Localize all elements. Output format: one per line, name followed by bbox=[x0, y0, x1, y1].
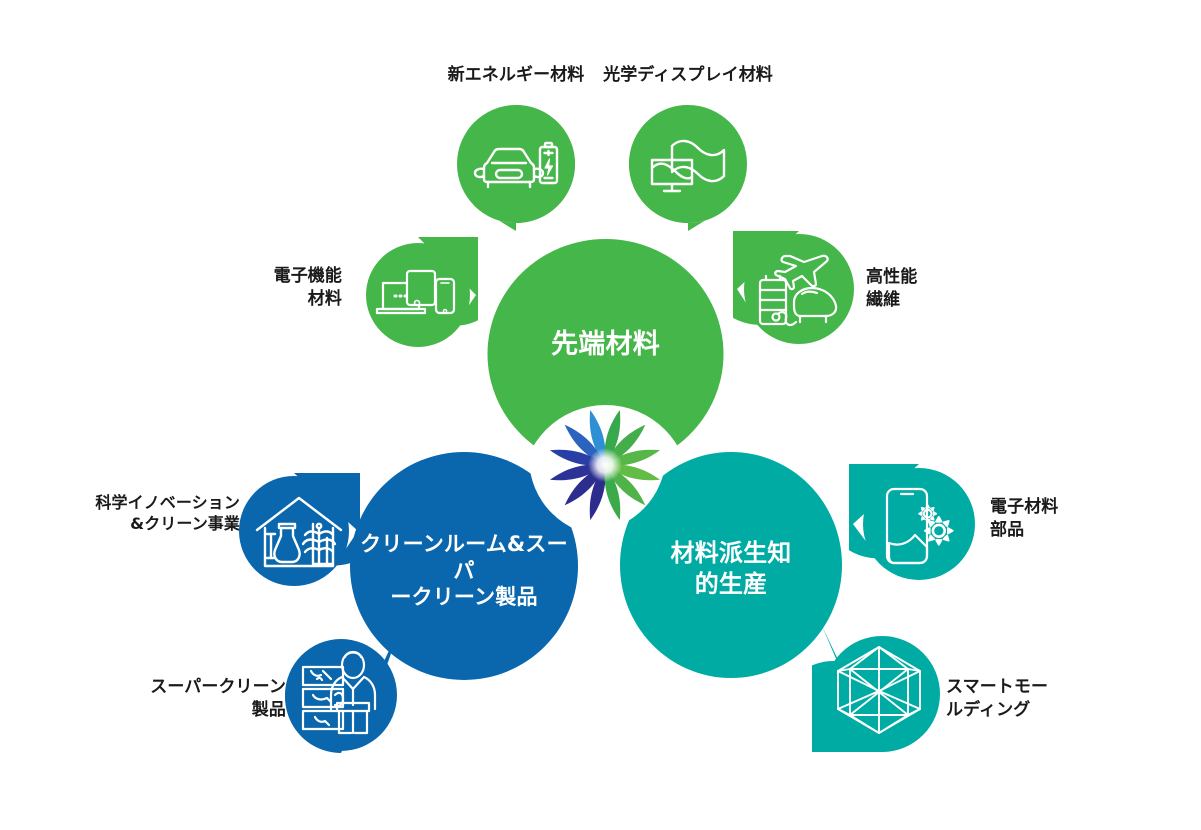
label-electronic-functional-materials: 電子機能 材料 bbox=[196, 265, 342, 311]
devices-icon bbox=[354, 237, 478, 353]
label-science-innovation-clean-business: 科学イノベーション &クリーン事業 bbox=[36, 492, 240, 535]
label-superclean-products: スーパークリーン 製品 bbox=[90, 676, 286, 722]
polyhedron-cube-icon bbox=[816, 628, 942, 752]
label-electronic-material-parts: 電子材料 部品 bbox=[990, 496, 1180, 542]
house-tree-flask-icon bbox=[238, 475, 360, 595]
label-high-performance-fiber: 高性能 繊維 bbox=[866, 266, 1026, 312]
flower-starburst-logo bbox=[541, 401, 669, 529]
satellite-electronic-material-parts[interactable] bbox=[849, 464, 977, 588]
satellite-smart-moulding[interactable] bbox=[812, 626, 942, 752]
airplane-train-battery-icon bbox=[739, 231, 857, 353]
satellite-high-performance-fiber[interactable] bbox=[733, 231, 857, 353]
satellite-superclean-products[interactable] bbox=[283, 625, 403, 753]
label-smart-moulding: スマートモー ルディング bbox=[946, 676, 1146, 722]
satellite-optical-display-materials[interactable] bbox=[627, 103, 749, 233]
label-optical-display-materials: 光学ディスプレイ材料 bbox=[578, 64, 798, 87]
satellite-electronic-functional-materials[interactable] bbox=[360, 237, 478, 353]
cleanroom-worker-icon bbox=[283, 631, 403, 753]
car-battery-icon bbox=[455, 99, 577, 233]
phone-gears-icon bbox=[859, 464, 977, 588]
satellite-science-innovation-clean-business[interactable] bbox=[236, 473, 360, 595]
satellite-new-energy-materials[interactable] bbox=[455, 103, 577, 233]
diagram-canvas: 新エネルギー材料 光学ディスプレイ材料 bbox=[0, 0, 1201, 830]
display-film-icon bbox=[627, 97, 749, 233]
